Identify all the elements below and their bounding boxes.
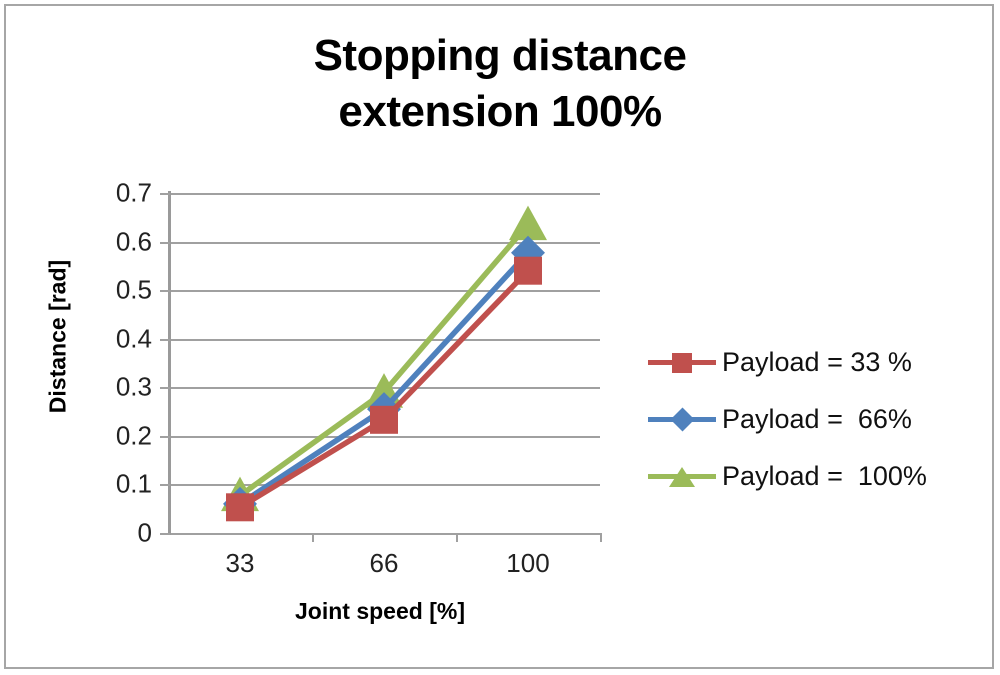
legend-key-diamond-icon — [648, 405, 716, 435]
chart-legend: Payload = 33 %Payload = 66%Payload = 100… — [648, 334, 988, 505]
y-axis-tick-label: 0.4 — [82, 323, 152, 354]
y-axis-tick — [160, 290, 170, 292]
x-axis-tick — [312, 533, 314, 542]
legend-item-label: Payload = 66% — [716, 404, 912, 435]
x-axis-tick-label: 33 — [180, 548, 300, 579]
legend-key-marker — [669, 467, 695, 487]
y-axis-tick — [160, 242, 170, 244]
chart-title-line-2: extension 100% — [120, 84, 880, 140]
legend-item[interactable]: Payload = 100% — [648, 448, 988, 505]
x-axis-title: Joint speed [%] — [160, 598, 600, 625]
y-axis-tick-label: 0 — [82, 518, 152, 549]
y-axis-tick — [160, 484, 170, 486]
gridline — [168, 533, 600, 535]
y-axis-tick-label: 0.1 — [82, 469, 152, 500]
y-axis-tick-labels: 0.70.60.50.40.30.20.10 — [80, 193, 152, 533]
y-axis-tick-label: 0.2 — [82, 420, 152, 451]
chart-title-line-1: Stopping distance — [314, 31, 687, 80]
y-axis-tick — [160, 387, 170, 389]
legend-key-triangle-icon — [648, 462, 716, 492]
x-axis-tick-label: 100 — [468, 548, 588, 579]
y-axis-tick-label: 0.7 — [82, 178, 152, 209]
legend-key-square-icon — [648, 348, 716, 378]
gridline — [168, 436, 600, 438]
gridline — [168, 193, 600, 195]
chart-screenshot: Stopping distance extension 100% Distanc… — [0, 0, 1000, 675]
y-axis-title: Distance [rad] — [45, 237, 72, 437]
gridline — [168, 339, 600, 341]
gridline — [168, 484, 600, 486]
legend-item[interactable]: Payload = 33 % — [648, 334, 988, 391]
y-axis-tick — [160, 339, 170, 341]
legend-key-marker — [670, 407, 694, 431]
gridline — [168, 290, 600, 292]
y-axis-tick-label: 0.6 — [82, 226, 152, 257]
y-axis-tick-label: 0.5 — [82, 275, 152, 306]
x-axis-tick-label: 66 — [324, 548, 444, 579]
legend-item-label: Payload = 100% — [716, 461, 927, 492]
y-axis-tick — [160, 533, 170, 535]
gridline — [168, 242, 600, 244]
plot-area — [168, 193, 600, 533]
legend-key-marker — [672, 353, 692, 373]
gridline — [168, 387, 600, 389]
y-axis-tick — [160, 193, 170, 195]
legend-item[interactable]: Payload = 66% — [648, 391, 988, 448]
chart-title: Stopping distance extension 100% — [120, 28, 880, 141]
y-axis-tick — [160, 436, 170, 438]
y-axis-tick-label: 0.3 — [82, 372, 152, 403]
x-axis-tick — [456, 533, 458, 542]
legend-item-label: Payload = 33 % — [716, 347, 912, 378]
x-axis-tick — [600, 533, 602, 542]
